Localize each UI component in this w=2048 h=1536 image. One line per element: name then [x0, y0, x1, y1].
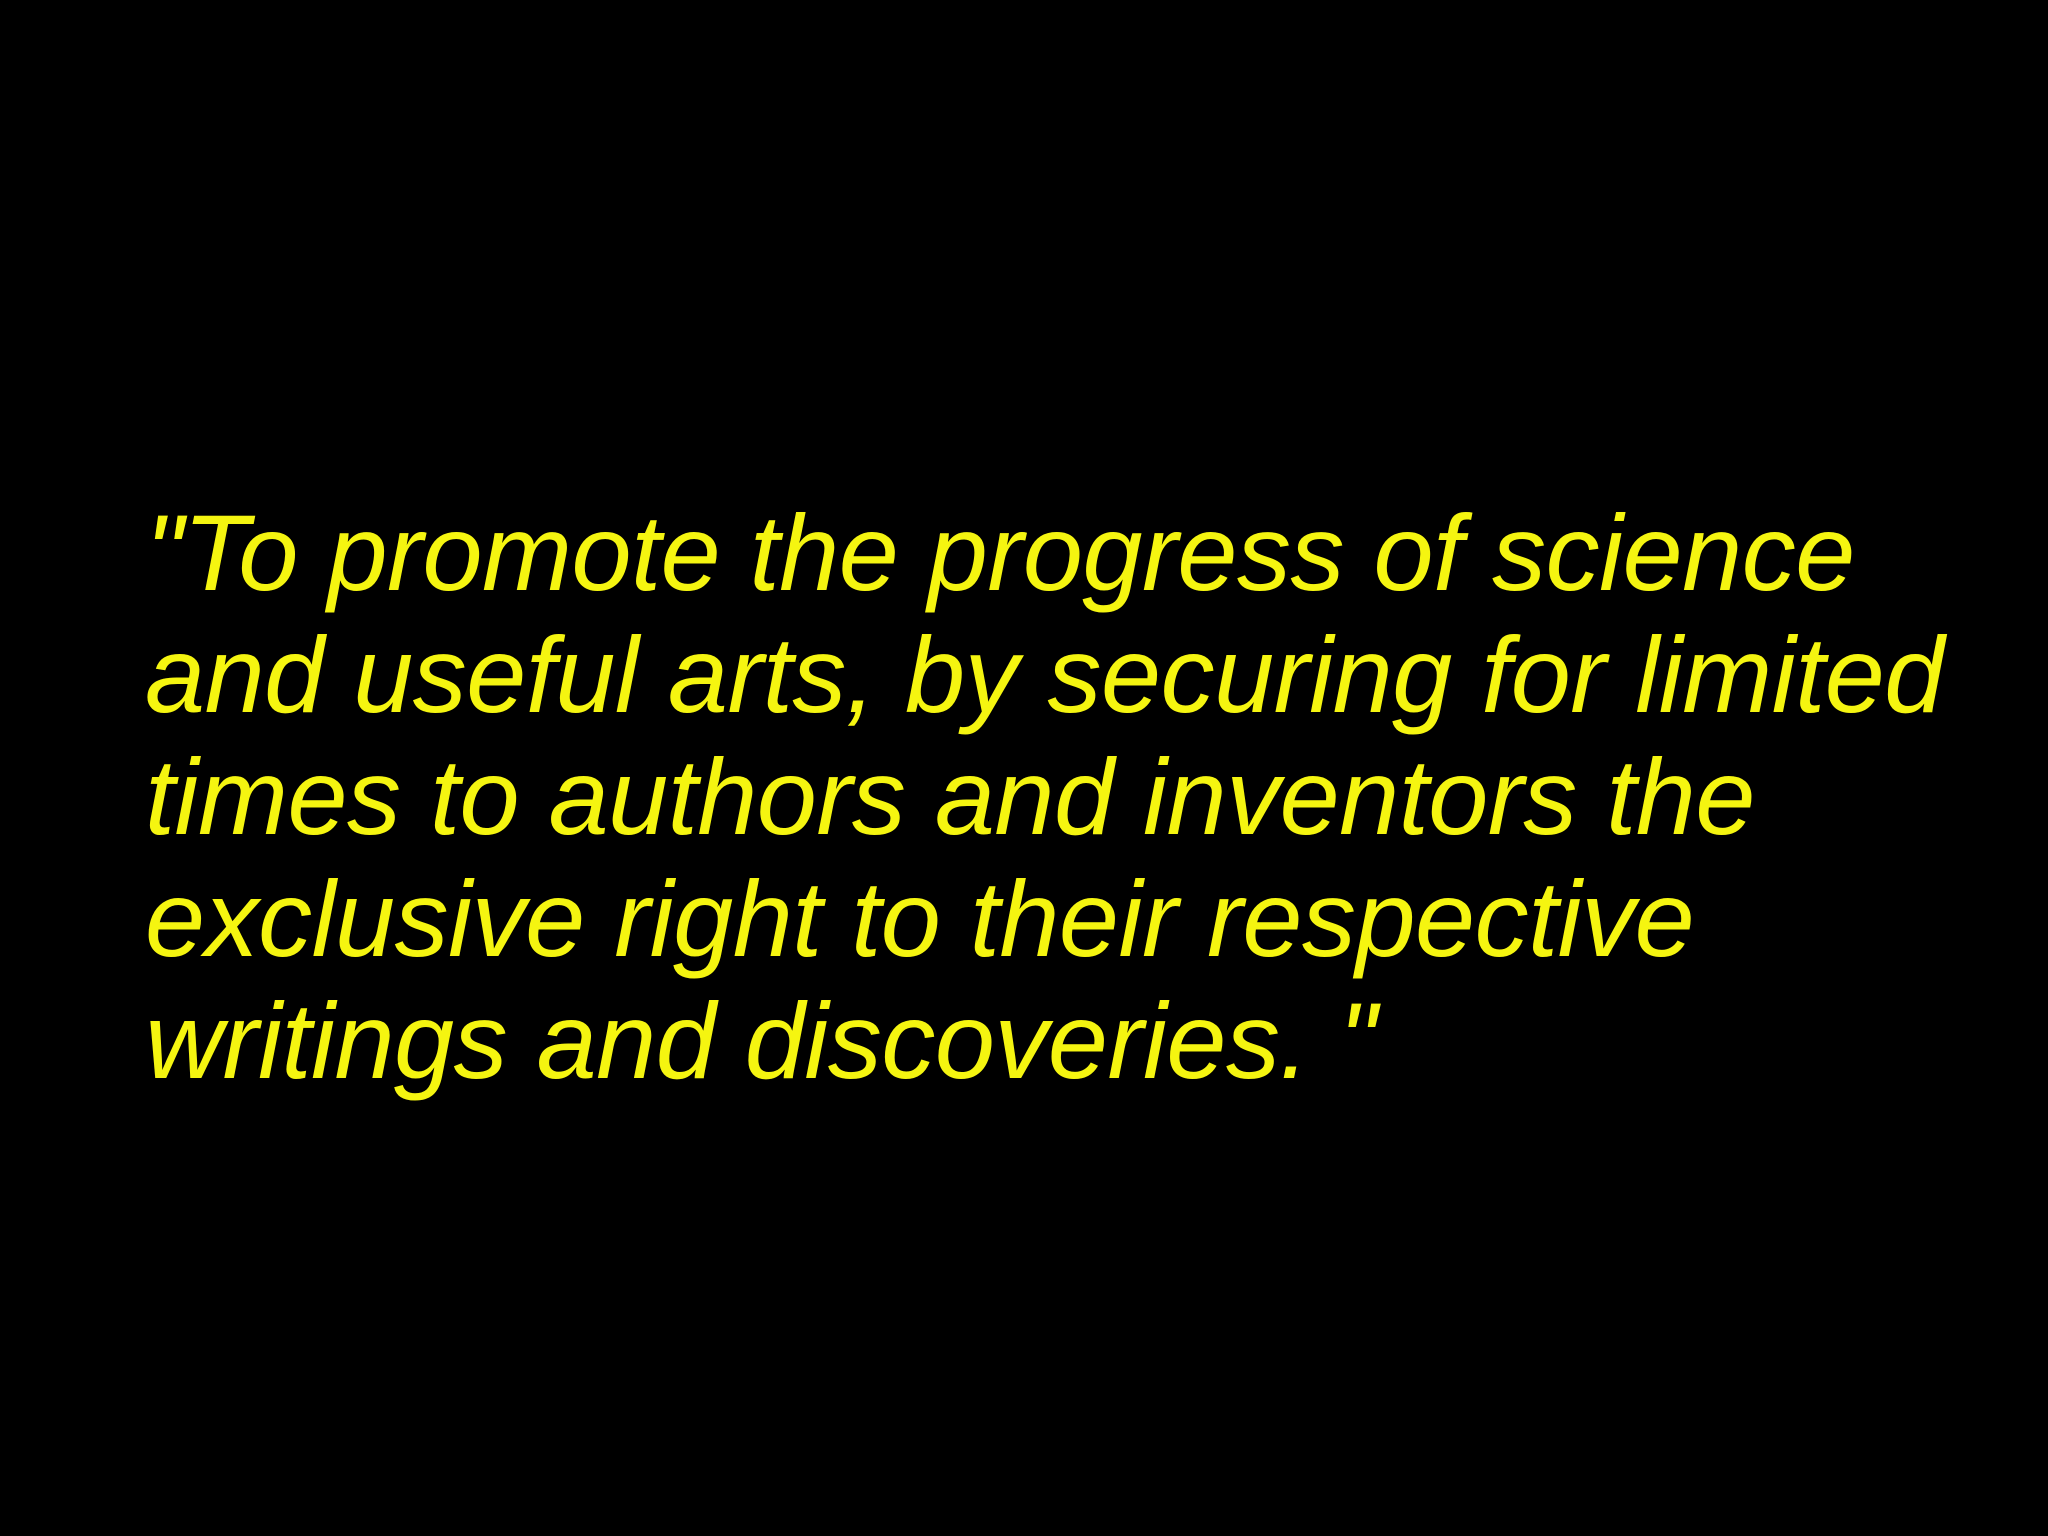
quote-line-1: "To promote the progress of science	[145, 492, 1935, 614]
quote-line-4: exclusive right to their respective	[145, 858, 1935, 980]
quote-line-3: times to authors and inventors the	[145, 736, 1935, 858]
quote-line-2: and useful arts, by securing for limited	[145, 614, 1935, 736]
slide-canvas: "To promote the progress of science and …	[0, 0, 2048, 1536]
quote-line-5: writings and discoveries. "	[145, 980, 1935, 1102]
quotation-text-block: "To promote the progress of science and …	[145, 492, 1935, 1102]
